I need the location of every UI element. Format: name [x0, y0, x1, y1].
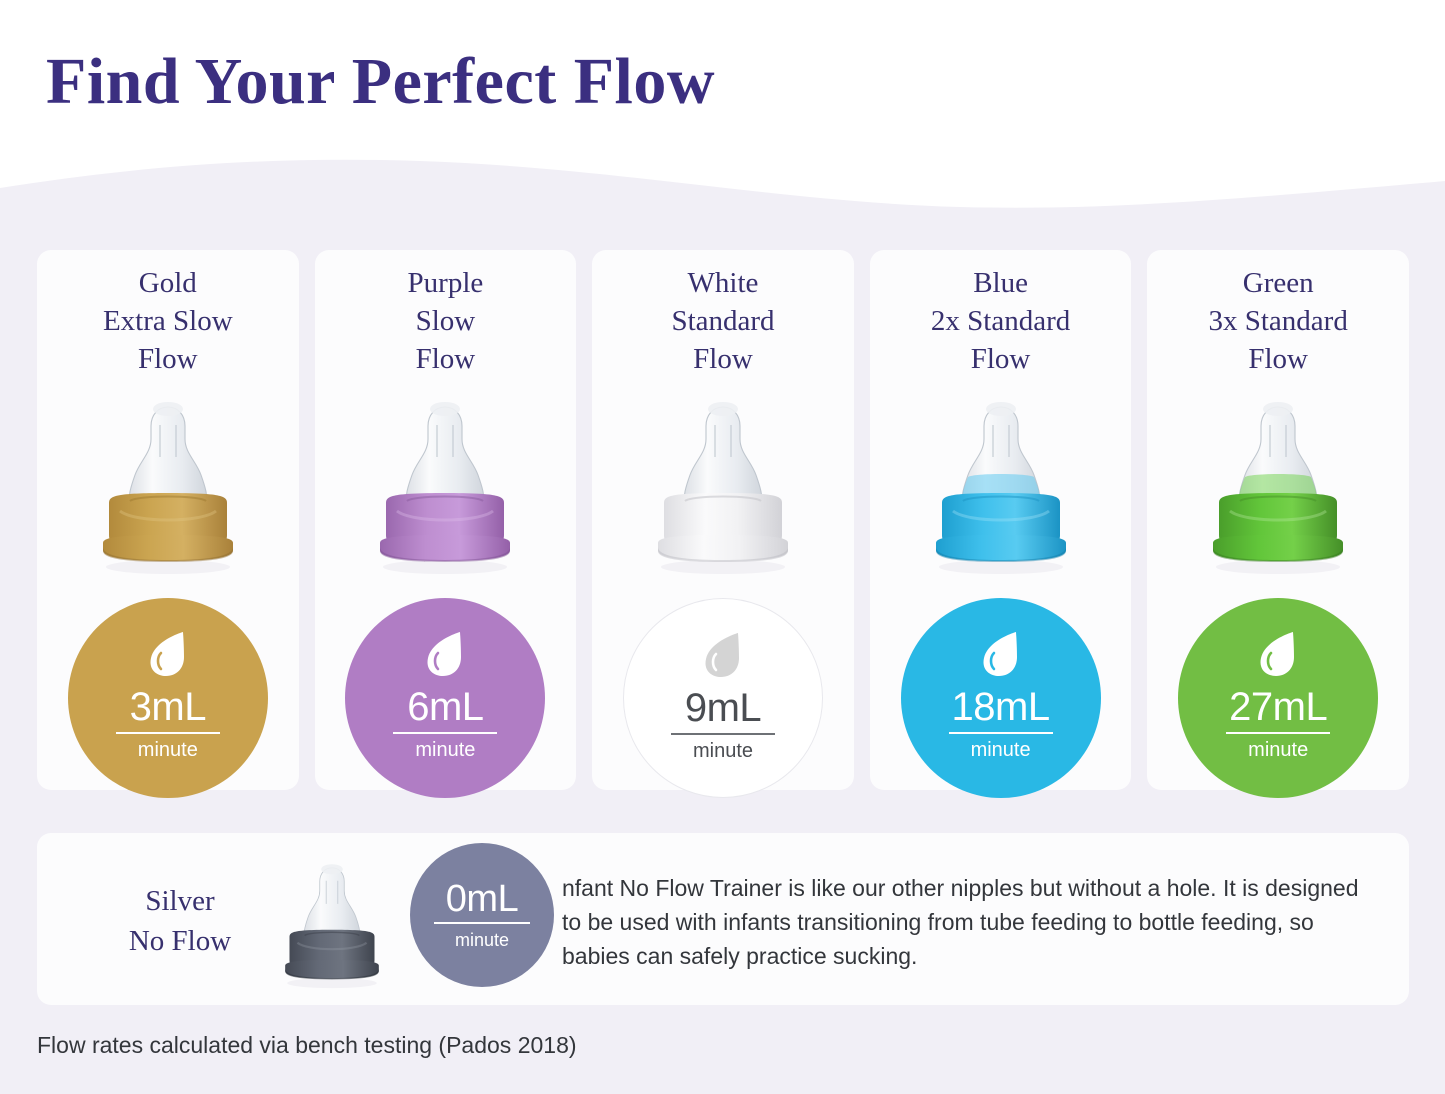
nipple-image-white	[592, 390, 854, 575]
card-title-purple: Purple Slow Flow	[315, 264, 577, 378]
card-title-white: White Standard Flow	[592, 264, 854, 378]
flow-line-1: 3x Standard	[1147, 302, 1409, 340]
card-title-green: Green 3x Standard Flow	[1147, 264, 1409, 378]
flow-line-1: Slow	[315, 302, 577, 340]
nipple-silicone	[406, 407, 484, 501]
flow-rate-circle-green[interactable]: 27mL minute	[1178, 598, 1378, 798]
flow-rate-circle-blue[interactable]: 18mL minute	[901, 598, 1101, 798]
flow-line-2: Flow	[1147, 340, 1409, 378]
rate-divider	[116, 732, 220, 734]
footnote: Flow rates calculated via bench testing …	[37, 1030, 577, 1060]
flow-line-1: Extra Slow	[37, 302, 299, 340]
nipple-image-blue	[870, 390, 1132, 575]
nipple-svg	[908, 395, 1094, 575]
nipple-image-gold	[37, 390, 299, 575]
flow-card-blue[interactable]: Blue 2x Standard Flow	[870, 250, 1132, 790]
droplet-icon	[700, 629, 746, 679]
rate-unit: minute	[1248, 738, 1308, 762]
droplet-icon	[145, 628, 191, 678]
rate-value: 9mL	[685, 685, 761, 731]
rate-value: 0mL	[446, 878, 518, 920]
flow-card-purple[interactable]: Purple Slow Flow	[315, 250, 577, 790]
color-name: White	[592, 264, 854, 302]
nipple-silicone	[129, 407, 207, 501]
flow-line-2: Flow	[37, 340, 299, 378]
rate-unit: minute	[138, 738, 198, 762]
rate-divider	[393, 732, 497, 734]
flow-line-2: Flow	[592, 340, 854, 378]
color-name: Silver	[85, 881, 275, 921]
nipple-svg	[75, 395, 261, 575]
silver-description: nfant No Flow Trainer is like our other …	[562, 871, 1362, 973]
nipple-silicone	[684, 407, 762, 501]
rate-unit: minute	[415, 738, 475, 762]
rate-value: 6mL	[407, 684, 483, 730]
rate-unit: minute	[455, 928, 509, 952]
color-name: Gold	[37, 264, 299, 302]
nipple-svg	[265, 851, 399, 997]
card-title-gold: Gold Extra Slow Flow	[37, 264, 299, 378]
droplet-icon	[1255, 628, 1301, 678]
nipple-svg	[630, 395, 816, 575]
color-name: Purple	[315, 264, 577, 302]
flow-card-white[interactable]: White Standard Flow	[592, 250, 854, 790]
rate-divider	[434, 922, 530, 924]
nipple-image-green	[1147, 390, 1409, 575]
flow-line-1: 2x Standard	[870, 302, 1132, 340]
flow-card-row: Gold Extra Slow Flow	[37, 250, 1409, 790]
rate-unit: minute	[971, 738, 1031, 762]
nipple-image-silver	[262, 847, 402, 997]
rate-divider	[1226, 732, 1330, 734]
rate-divider	[671, 733, 775, 735]
flow-rate-circle-silver[interactable]: 0mL minute	[410, 843, 554, 987]
rate-value: 3mL	[130, 684, 206, 730]
nipple-image-purple	[315, 390, 577, 575]
flow-label: No Flow	[85, 921, 275, 961]
flow-line-2: Flow	[315, 340, 577, 378]
flow-card-gold[interactable]: Gold Extra Slow Flow	[37, 250, 299, 790]
silver-label: Silver No Flow	[85, 881, 275, 961]
rate-unit: minute	[693, 739, 753, 763]
droplet-icon	[422, 628, 468, 678]
flow-card-green[interactable]: Green 3x Standard Flow	[1147, 250, 1409, 790]
color-name: Blue	[870, 264, 1132, 302]
card-title-blue: Blue 2x Standard Flow	[870, 264, 1132, 378]
flow-line-1: Standard	[592, 302, 854, 340]
flow-line-2: Flow	[870, 340, 1132, 378]
rate-value: 18mL	[952, 684, 1050, 730]
nipple-silicone	[304, 868, 360, 936]
rate-divider	[949, 732, 1053, 734]
droplet-icon	[978, 628, 1024, 678]
silver-no-flow-panel[interactable]: Silver No Flow	[37, 833, 1409, 1005]
color-name: Green	[1147, 264, 1409, 302]
page-title: Find Your Perfect Flow	[46, 44, 715, 120]
rate-value: 27mL	[1229, 684, 1327, 730]
nipple-svg	[1185, 395, 1371, 575]
nipple-svg	[352, 395, 538, 575]
flow-rate-circle-purple[interactable]: 6mL minute	[345, 598, 545, 798]
flow-rate-circle-white[interactable]: 9mL minute	[623, 598, 823, 798]
flow-rate-circle-gold[interactable]: 3mL minute	[68, 598, 268, 798]
